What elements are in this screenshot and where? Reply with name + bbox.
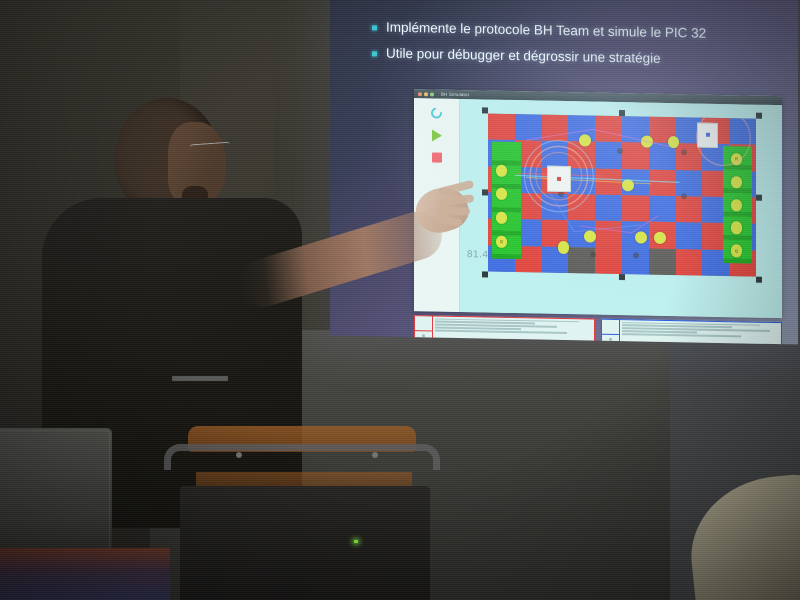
board-tile[interactable] [676, 222, 703, 249]
board-tile[interactable] [568, 168, 595, 195]
board-tile[interactable] [595, 221, 622, 248]
board-peg [681, 149, 687, 155]
board-tile[interactable] [649, 169, 676, 196]
window-title: BH Simulator [441, 92, 469, 98]
log-gutter-top [602, 320, 619, 335]
chair-screw [236, 452, 242, 458]
chair-screw [372, 452, 378, 458]
chair-under-shadow [180, 486, 430, 600]
board-tile[interactable] [595, 142, 622, 169]
board-peg [590, 251, 596, 257]
robot-blue[interactable] [697, 122, 718, 148]
status-value: 81.4 [467, 249, 488, 260]
game-token[interactable]: Q [731, 245, 743, 257]
board-tile[interactable] [729, 118, 756, 145]
play-tool-button[interactable] [430, 128, 443, 141]
list-item: Utile pour débugger et dégrossir une str… [372, 45, 792, 71]
game-token[interactable] [496, 164, 508, 176]
board-tile[interactable] [649, 248, 676, 275]
green-led-icon [354, 540, 358, 543]
board-tile[interactable] [649, 196, 676, 223]
status-dot-icon [422, 334, 425, 337]
board-tile[interactable] [595, 247, 622, 274]
robot-marker-icon [557, 177, 561, 181]
game-board-selection[interactable]: QRQ [482, 107, 762, 282]
board-tile[interactable] [542, 115, 569, 142]
board-peg [633, 252, 639, 258]
board-tile[interactable] [595, 168, 622, 195]
selection-handle-sw[interactable] [482, 271, 488, 277]
board-tile[interactable] [542, 194, 569, 221]
slide-bullet-list: Implémente le protocole BH Team et simul… [372, 18, 792, 79]
laptop [0, 428, 112, 558]
chair-metal-frame [164, 444, 440, 470]
slide-title: Simulateur [480, 0, 780, 4]
board-peg [681, 193, 687, 199]
slide-bullet-text: Utile pour débugger et dégrossir une str… [386, 45, 661, 68]
bullet-square-icon [372, 25, 377, 30]
board-tile[interactable] [568, 194, 595, 221]
robot-red[interactable] [547, 165, 571, 192]
presentation-photo: Simulateur Implémente le protocole BH Te… [0, 0, 800, 600]
game-token[interactable] [622, 179, 634, 191]
maximize-button[interactable] [430, 92, 434, 96]
bullet-square-icon [372, 52, 377, 57]
game-token[interactable] [731, 199, 743, 211]
game-token[interactable] [641, 135, 653, 147]
log-gutter-top [415, 316, 432, 331]
board-tile[interactable] [622, 195, 649, 222]
board-peg [617, 148, 623, 154]
log-lines [620, 320, 781, 344]
chair [150, 420, 450, 600]
board-tile[interactable] [595, 116, 622, 143]
presenter-hand [408, 178, 476, 242]
log-gutter [602, 320, 620, 344]
reload-tool-button[interactable] [430, 106, 443, 119]
board-tile[interactable] [595, 195, 622, 222]
status-dot-icon [609, 338, 612, 341]
game-token[interactable] [558, 241, 570, 253]
simulation-canvas[interactable]: QRQ [460, 99, 782, 318]
board-tile[interactable] [676, 249, 703, 276]
minimize-button[interactable] [424, 92, 428, 96]
list-item: Implémente le protocole BH Team et simul… [372, 18, 792, 44]
desk-surface [0, 548, 170, 600]
game-token[interactable] [731, 176, 743, 188]
reload-icon [429, 105, 444, 120]
game-token[interactable]: R [731, 153, 743, 165]
stop-tool-button[interactable] [430, 150, 443, 163]
projection-screen: Simulateur Implémente le protocole BH Te… [330, 0, 798, 344]
log-gutter [415, 316, 433, 340]
board-tile[interactable] [676, 170, 703, 197]
board-tile[interactable] [515, 114, 542, 141]
game-board[interactable]: QRQ [488, 114, 756, 277]
selection-handle-s[interactable] [619, 274, 625, 280]
board-tile[interactable] [676, 196, 703, 223]
board-tile[interactable] [542, 141, 569, 168]
finger [439, 206, 470, 215]
game-token[interactable]: Q [496, 235, 508, 247]
stop-icon [432, 152, 442, 162]
board-tile[interactable] [488, 114, 515, 141]
slide-bullet-text: Implémente le protocole BH Team et simul… [386, 19, 706, 43]
close-button[interactable] [418, 92, 422, 96]
shirt-logo [172, 376, 228, 381]
selection-handle-e[interactable] [756, 195, 762, 201]
selection-handle-se[interactable] [756, 277, 762, 283]
game-token[interactable] [731, 222, 743, 234]
selection-handle-ne[interactable] [756, 113, 762, 119]
game-token[interactable] [579, 134, 591, 146]
play-icon [432, 129, 442, 141]
blue-team-log[interactable] [601, 319, 782, 345]
robot-marker-icon [706, 133, 710, 137]
laptop-screen-edge [0, 430, 110, 558]
